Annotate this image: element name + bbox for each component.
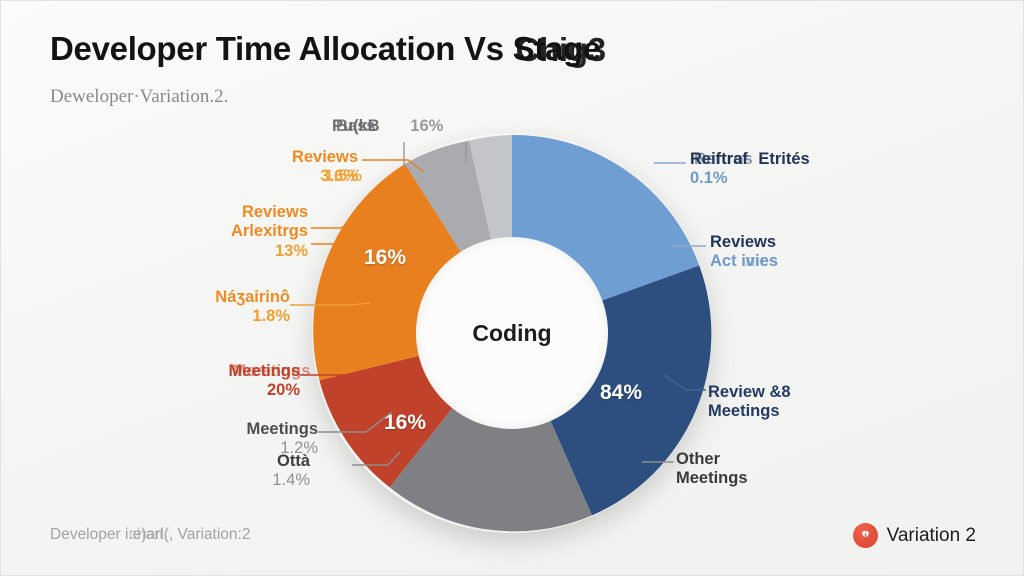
footer-caption: Developer i:e)arl(, chart, Variation:2: [50, 526, 250, 544]
page-title: Developer Time Allocation Vs Stage Chig3: [50, 30, 601, 68]
callout-meetings-20-pct: 20%: [120, 381, 300, 400]
footer-caption-c: chart,: [129, 526, 168, 544]
callout-review-meetings-line2: Meetings: [708, 402, 791, 421]
callout-other-14-pct: 1.4%: [170, 471, 310, 490]
callout-reviews-activities[interactable]: Reviews Act ivies nies: [710, 233, 778, 272]
callout-reviews-36[interactable]: Reviews 3.6% 1.5%: [178, 148, 358, 187]
callout-reviews-36-line1: Reviews: [178, 148, 358, 167]
callout-reirtraf-pct: 0.1%: [690, 169, 810, 188]
callout-puckbass-label: Pu(kB Bass: [332, 117, 380, 136]
callout-meetings-20-label: Meetings Mœetings: [228, 362, 300, 381]
callout-dagairino-label: Náʒairinô: [215, 288, 290, 307]
center-label: Coding: [472, 320, 551, 347]
callout-other-14-label-a: Ottà: [277, 452, 310, 470]
callout-other-14[interactable]: Ottà 1.4%: [170, 452, 310, 491]
callout-dagairino-label-a: Náʒairinô: [215, 288, 290, 306]
page-title-main: Developer Time Allocation Vs: [50, 30, 504, 67]
page-title-garbled: Stage Chig3: [513, 30, 601, 68]
callout-meetings-20[interactable]: Meetings Mœetings 20%: [120, 362, 300, 401]
slice-label-gray: 16%: [384, 411, 426, 435]
callout-reviews-activities-line2-a: Act: [710, 252, 737, 270]
callout-other-meetings-line1: Other: [676, 450, 748, 469]
footer-caption-a: Developer: [50, 526, 121, 543]
variation-badge-label: Variation 2: [887, 525, 976, 547]
callout-other-meetings[interactable]: Other Meetings: [676, 450, 748, 489]
callout-other-14-label: Ottà: [277, 452, 310, 471]
callout-reirtraf-label-c: Etrités: [758, 150, 809, 168]
callout-reirtraf-label: Reiftraf Rertros: [690, 150, 748, 169]
callout-review-meetings-label-a: Review &8: [708, 383, 791, 401]
callout-review-meetings[interactable]: Review &8 Meetings: [708, 383, 791, 422]
page-title-garbled-b: Chig3: [516, 31, 606, 69]
callout-other-meetings-line2: Meetings: [676, 469, 748, 488]
callout-puckbass-label-b: Bass: [336, 117, 375, 136]
callout-reviews-activities-line2-c: nies: [745, 252, 778, 271]
slice-label-orange: 16%: [364, 246, 406, 270]
callout-reviews-arlexitrgs-line1: Reviews: [128, 203, 308, 222]
variation-badge[interactable]: Variation 2: [853, 523, 976, 548]
callout-reviews-arlexitrgs-pct: 13%: [128, 242, 308, 261]
callout-reirtraf-label-b: Rertros: [694, 150, 753, 169]
callout-reviews-activities-line1: Reviews: [710, 233, 778, 252]
page-subtitle: Deweloper·Variation.2.: [50, 86, 228, 108]
callout-reviews-arlexitrgs-line2: Arlexitrgs: [128, 222, 308, 241]
callout-reviews-36-pct: 3.6% 1.5%: [320, 167, 358, 186]
callout-puckbass[interactable]: Pu(kB Bass 16%: [332, 117, 443, 136]
callout-reviews-arlexitrgs[interactable]: Reviews Arlexitrgs 13%: [128, 203, 308, 261]
callout-reviews-activities-line2-ov: ivies nies: [741, 252, 778, 271]
slice-label-navy: 84%: [600, 381, 642, 405]
callout-review-meetings-label: Review &8: [708, 383, 791, 402]
footer-caption-d: Variation:2: [178, 526, 251, 543]
callout-puckbass-pct: 16%: [410, 117, 443, 135]
donut-chart: Coding 16% 16% 84%: [312, 133, 712, 533]
tulip-logo-icon: [853, 523, 878, 548]
slide-canvas: Developer Time Allocation Vs Stage Chig3…: [0, 0, 1024, 576]
callout-meetings-20-label-b: Mœetings: [232, 362, 310, 381]
callout-meetings-12-line1: Meetings: [140, 420, 318, 439]
callout-reirtraf-etrites[interactable]: Reiftraf Rertros Etrités 0.1%: [690, 150, 810, 189]
callout-dagairino-pct: 1.8%: [110, 307, 290, 326]
footer-caption-garbled: i:e)arl(, chart,: [125, 526, 173, 544]
donut-center: Coding: [416, 237, 608, 429]
callout-dagairino[interactable]: Náʒairinô 1.8%: [110, 288, 290, 327]
callout-reviews-36-pct-b: 1.5%: [324, 167, 362, 186]
